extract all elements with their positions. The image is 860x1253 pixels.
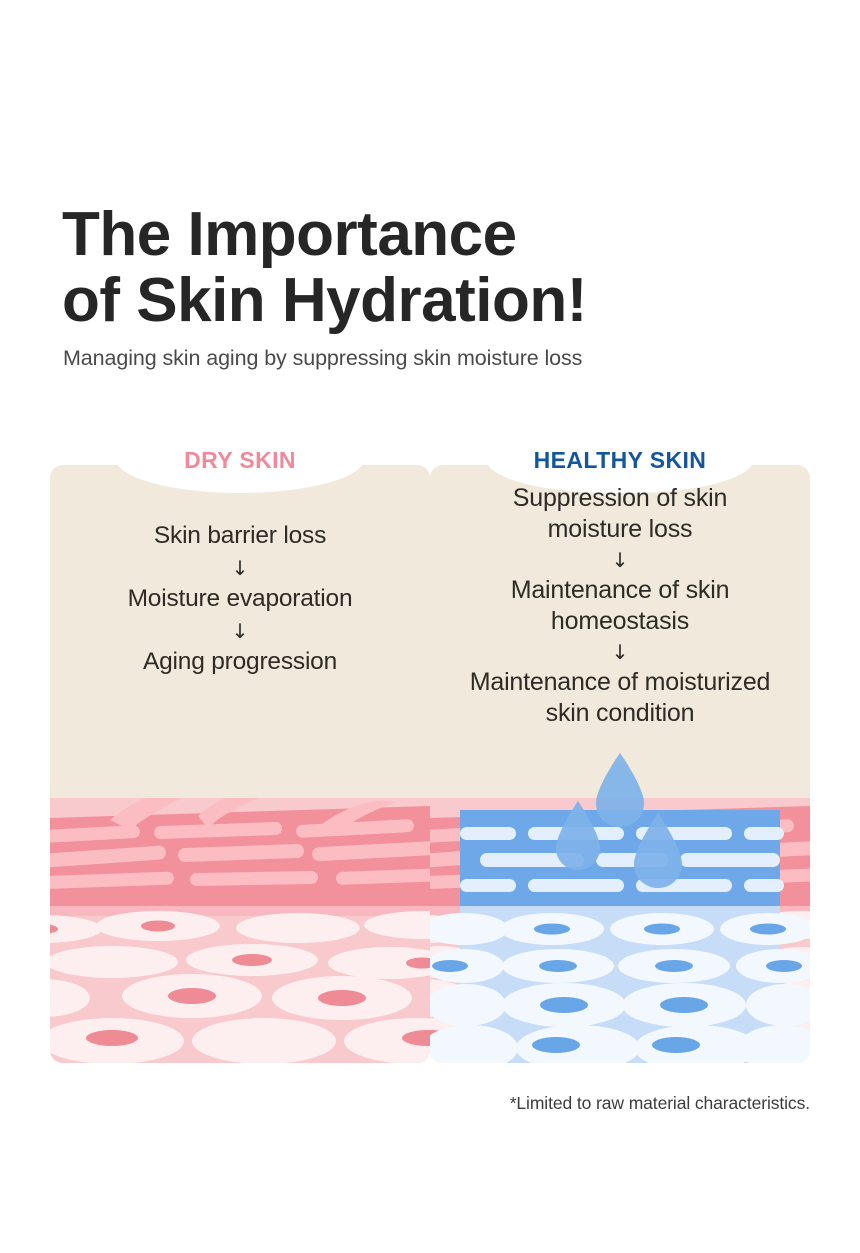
arrow-down-icon: ↓ [430,550,810,570]
panel-dry-skin: Skin barrier loss ↓ Moisture evaporation… [50,465,430,1063]
arrow-down-icon: ↓ [430,642,810,662]
flow-step: Maintenance of skin homeostasis [430,575,810,636]
flow-step-line: Suppression of skin moisture loss [513,484,727,543]
title-line-1: The Importance [62,200,517,269]
panel-healthy-skin: Suppression of skin moisture loss ↓ Main… [430,465,810,1063]
flow-step-line: Maintenance of skin homeostasis [511,576,730,635]
arrow-down-icon: ↓ [50,621,430,641]
panel-label-dry-skin: DRY SKIN [50,447,430,474]
footnote: *Limited to raw material characteristics… [0,1093,810,1114]
flow-dry-skin: Skin barrier loss ↓ Moisture evaporation… [50,521,430,677]
flow-step: Moisture evaporation [50,584,430,614]
page-subtitle: Managing skin aging by suppressing skin … [63,346,843,371]
dry-skin-illustration [50,798,430,1063]
healthy-skin-illustration [430,798,810,1063]
flow-step: Suppression of skin moisture loss [430,483,810,544]
flow-step: Maintenance of moisturized skin conditio… [430,667,810,728]
page-title: The Importance of Skin Hydration! [62,202,802,335]
flow-step: Aging progression [50,647,430,677]
flow-step-line: Maintenance of moisturized skin conditio… [470,668,771,727]
title-line-2: of Skin Hydration! [62,268,802,334]
panel-label-healthy-skin: HEALTHY SKIN [430,447,810,474]
flow-step: Skin barrier loss [50,521,430,551]
infographic-root: The Importance of Skin Hydration! Managi… [0,0,860,1253]
flow-healthy-skin: Suppression of skin moisture loss ↓ Main… [430,483,810,728]
arrow-down-icon: ↓ [50,558,430,578]
